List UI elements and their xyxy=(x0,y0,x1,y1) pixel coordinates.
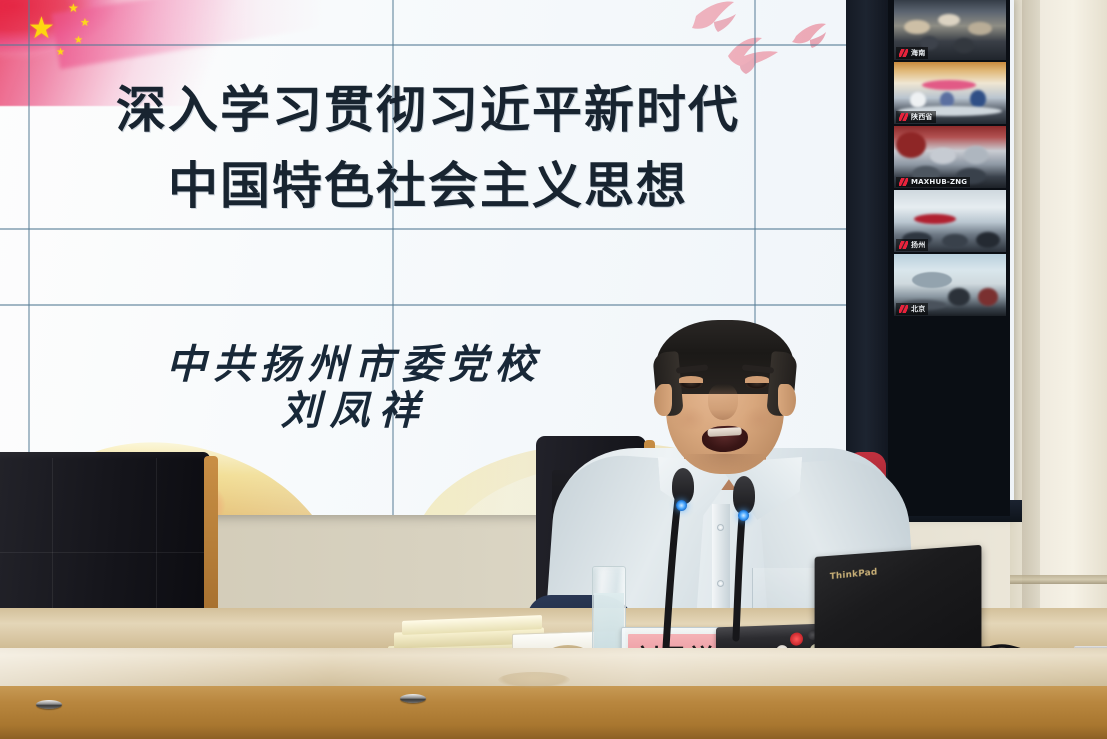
vc-tile[interactable]: 海南 xyxy=(894,0,1006,60)
conference-desk-front xyxy=(0,686,1107,739)
flying-doves-graphic xyxy=(684,0,864,76)
microphone-head-left xyxy=(672,468,694,504)
chair-wood-frame xyxy=(204,456,218,618)
flag-star-small-2: ★ xyxy=(80,18,90,29)
cable-grommet[interactable] xyxy=(36,700,62,709)
vc-tile-label-text: 扬州 xyxy=(911,240,925,250)
chair-seam xyxy=(156,458,157,608)
vc-tile-label: 北京 xyxy=(896,303,928,315)
vc-tile-label-text: 北京 xyxy=(911,304,925,314)
speaker-teeth xyxy=(707,427,741,437)
vc-tile-label: 陕西省 xyxy=(896,111,936,123)
vc-tile-label: 海南 xyxy=(896,47,928,59)
speaker-nose xyxy=(708,384,738,420)
vc-tile[interactable]: MAXHUB-ZNG xyxy=(894,126,1006,188)
slide-title-line-2: 中国特色社会主义思想 xyxy=(0,146,862,218)
vc-tile-label-text: 陕西省 xyxy=(911,112,933,122)
maxhub-logo-icon xyxy=(899,178,908,186)
chair-seam xyxy=(52,458,53,608)
microphone-led-ring-right xyxy=(738,510,749,521)
flag-star-small-4: ★ xyxy=(56,48,65,58)
microphone-led-ring-left xyxy=(676,500,687,511)
black-leather-chair[interactable] xyxy=(0,452,210,618)
maxhub-logo-icon xyxy=(899,241,908,249)
vc-tile-label: MAXHUB-ZNG xyxy=(896,177,970,187)
speaker-ear-right xyxy=(778,384,796,416)
speaker-eyelid-right xyxy=(745,376,769,383)
maxhub-logo-icon xyxy=(899,305,908,313)
vc-tile[interactable]: 扬州 xyxy=(894,190,1006,252)
led-seam-horizontal-3 xyxy=(0,304,862,306)
wall-trim-molding xyxy=(1010,575,1107,584)
screenshot-root: ★ ★ ★ ★ ★ xyxy=(0,0,1107,739)
microphone-head-right xyxy=(733,476,755,514)
wall-panel-seam xyxy=(1022,0,1040,640)
cable-grommet[interactable] xyxy=(400,694,426,703)
led-seam-horizontal-1 xyxy=(0,44,862,46)
vc-tile-label: 扬州 xyxy=(896,239,928,251)
vc-tile[interactable]: 北京 xyxy=(894,254,1006,316)
flag-star-small-1: ★ xyxy=(68,2,79,14)
flag-star-large: ★ xyxy=(28,14,55,44)
vc-tile-label-text: 海南 xyxy=(911,48,925,58)
slide-title-line-1: 深入学习贯彻习近平新时代 xyxy=(0,70,862,142)
speaker-eyelid-left xyxy=(679,376,703,383)
thinkpad-logo: ThinkPad xyxy=(830,567,878,582)
vc-tile-label-text: MAXHUB-ZNG xyxy=(911,178,967,186)
maxhub-logo-icon xyxy=(899,49,908,57)
round-coaster xyxy=(498,672,570,688)
led-seam-horizontal-2 xyxy=(0,228,862,230)
vc-tile[interactable]: 陕西省 xyxy=(894,62,1006,124)
chair-seam xyxy=(0,552,204,553)
speaker-ear-left xyxy=(654,384,672,416)
maxhub-logo-icon xyxy=(899,113,908,121)
